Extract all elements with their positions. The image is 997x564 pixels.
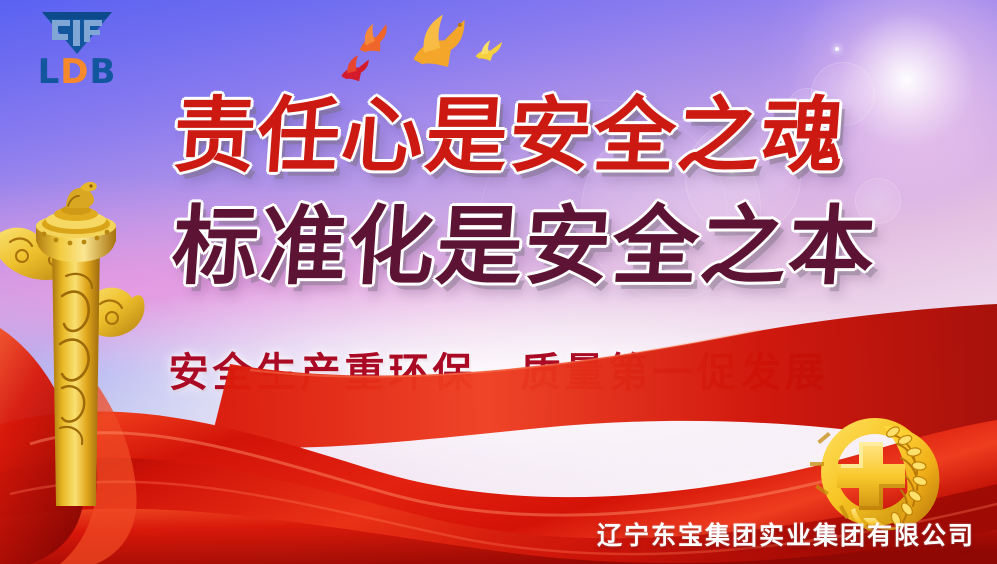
dove-orange-icon bbox=[352, 20, 396, 58]
ldb-logo: LDB bbox=[24, 8, 130, 92]
dove-red-icon bbox=[336, 52, 376, 86]
company-name: 辽宁东宝集团实业集团有限公司 bbox=[597, 516, 975, 552]
poster-canvas: LDB 责任心是安全之魂 标准化是安全之本 安全生产重环保 质量第一促发展 bbox=[0, 0, 997, 564]
headline-line-1: 责任心是安全之魂 bbox=[0, 88, 997, 186]
dove-yellow-small-icon bbox=[470, 36, 506, 66]
logo-letter-b: B bbox=[89, 52, 116, 92]
logo-text: LDB bbox=[24, 54, 130, 90]
logo-letter-d: D bbox=[60, 52, 89, 92]
subtitle-slogan: 安全生产重环保 质量第一促发展 bbox=[0, 348, 997, 398]
headline-line-2: 标准化是安全之本 bbox=[0, 196, 997, 298]
dove-gold-large-icon bbox=[404, 12, 476, 74]
shield-monogram-icon bbox=[24, 8, 130, 58]
logo-letter-l: L bbox=[38, 52, 61, 92]
lens-flare-spark-icon bbox=[835, 47, 839, 51]
